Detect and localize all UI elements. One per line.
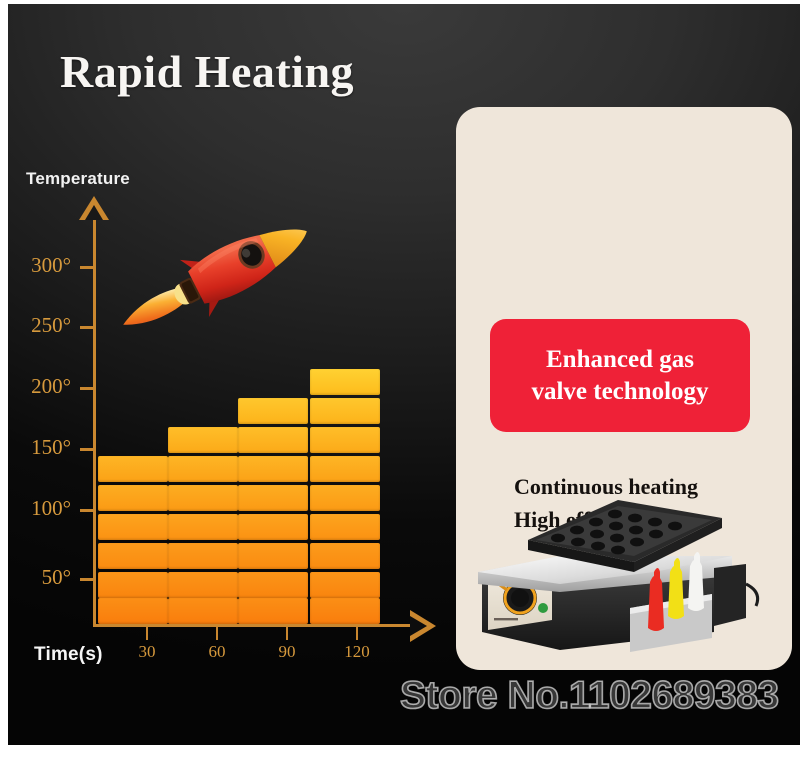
bar-segment xyxy=(98,572,168,598)
product-image xyxy=(464,472,784,670)
bar-segment xyxy=(238,398,308,424)
bar-segment xyxy=(310,398,380,424)
bar-segment xyxy=(310,572,380,598)
bar-segment xyxy=(98,543,168,569)
bar-segment xyxy=(168,598,238,624)
bar-segment xyxy=(310,514,380,540)
badge-label: Enhanced gas valve technology xyxy=(519,344,720,408)
bar-segment xyxy=(168,572,238,598)
promo-banner: Rapid Heating Temperature Time(s) 300° 2… xyxy=(0,0,800,762)
bar-segment xyxy=(98,598,168,624)
bar-segment xyxy=(310,456,380,482)
bar-segment xyxy=(98,514,168,540)
feature-panel: Enhanced gas valve technology Continuous… xyxy=(456,107,792,670)
bar-segment xyxy=(168,485,238,511)
bar-segment xyxy=(168,427,238,453)
bar-60[interactable] xyxy=(168,424,238,624)
status-badge: Enhanced gas valve technology xyxy=(490,319,750,432)
rocket-icon xyxy=(108,216,323,346)
bar-segment xyxy=(238,485,308,511)
bar-segment xyxy=(238,456,308,482)
bar-segment xyxy=(168,456,238,482)
bottom-edge-strip xyxy=(0,745,800,762)
bar-segment xyxy=(98,485,168,511)
bar-segment xyxy=(310,427,380,453)
store-watermark: Store No.1102689383 xyxy=(400,674,779,718)
bar-segment xyxy=(238,427,308,453)
bar-segment xyxy=(310,543,380,569)
bar-segment xyxy=(168,543,238,569)
page-title: Rapid Heating xyxy=(60,45,354,98)
badge-line-1: Enhanced gas xyxy=(546,346,694,373)
bar-segment xyxy=(238,598,308,624)
left-edge-strip xyxy=(0,0,8,762)
bar-90[interactable] xyxy=(238,395,308,624)
bar-segment xyxy=(310,598,380,624)
bar-segment xyxy=(310,485,380,511)
chart-stage: Rapid Heating Temperature Time(s) 300° 2… xyxy=(8,4,800,745)
bar-segment xyxy=(238,572,308,598)
bar-segment xyxy=(168,514,238,540)
bar-segment xyxy=(98,456,168,482)
bar-segment xyxy=(238,514,308,540)
bar-30[interactable] xyxy=(98,453,168,624)
bar-120[interactable] xyxy=(310,366,380,624)
bar-segment xyxy=(238,543,308,569)
rapid-heating-chart: Temperature Time(s) 300° 250° 200° 150° xyxy=(8,154,458,674)
bar-segment xyxy=(310,369,380,395)
badge-line-2: valve technology xyxy=(531,378,708,405)
